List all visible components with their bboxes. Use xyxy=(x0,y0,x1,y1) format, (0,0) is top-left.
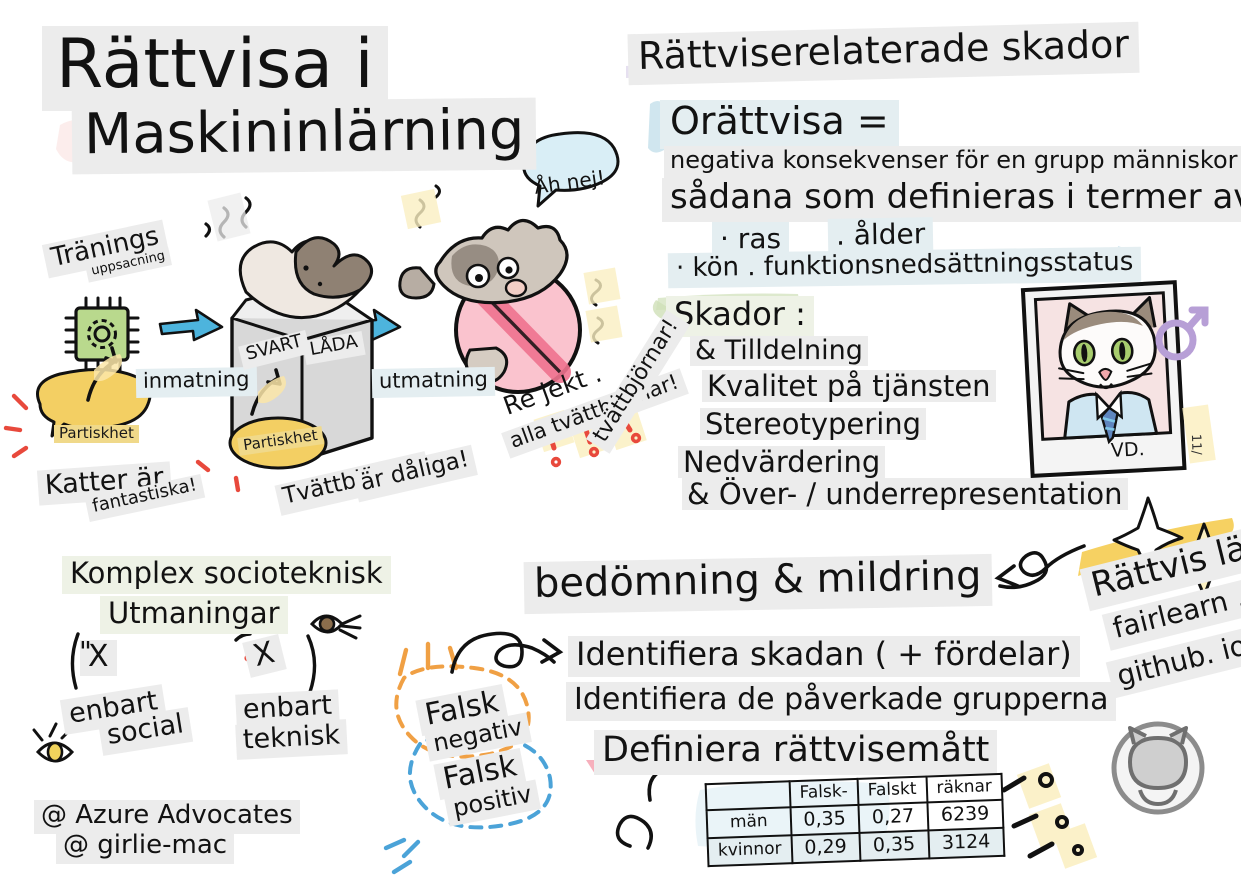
unfairness-subtitle: negativa konsekvenser för en grupp männi… xyxy=(664,146,1241,178)
table-col-count: räknar xyxy=(926,774,1002,803)
exclamation-marks-cluster-2 xyxy=(1004,763,1097,868)
unfairness-label: Orättvisa = xyxy=(660,100,899,149)
blue-arrow-right-icon-1 xyxy=(160,310,222,340)
input-label: inmatning xyxy=(136,367,257,398)
harm-item-quality-of-service: Kvalitet på tjänsten xyxy=(702,370,996,402)
sticky-note-decor: 11/ xyxy=(1182,404,1216,463)
eye-icon-1 xyxy=(312,616,360,638)
bias-bubble-label-1: Partiskhet xyxy=(54,425,139,443)
fairness-metrics-table: Falsk- Falskt räknar män 0,35 0,27 6239 … xyxy=(705,773,1006,867)
credit-line-2: @ girlie-mac xyxy=(56,830,234,864)
table-cell-men-false-negative: 0,35 xyxy=(790,805,859,835)
challenges-heading-line-1: Komplex socioteknisk xyxy=(62,556,391,594)
credit-line-1: @ Azure Advocates xyxy=(34,800,300,834)
bias-bubble-label-2: Partiskhet xyxy=(237,426,324,455)
orange-rays xyxy=(400,644,456,674)
photo-caption-ceo: VD. xyxy=(1105,439,1150,463)
attribute-gender-disability: · kön . funktionsnedsättningsstatus xyxy=(668,247,1142,289)
black-box-word-1: SVART xyxy=(238,330,311,370)
challenges-heading-line-2: Utmaningar xyxy=(100,596,288,634)
speech-bubble-text: Åh nej! xyxy=(533,167,606,198)
table-col-false-negative: Falsk- xyxy=(789,779,858,807)
option-technical-line-2: teknisk xyxy=(235,719,348,760)
svg-text:11/: 11/ xyxy=(1188,434,1204,456)
assessment-step-2: Identifiera de påverkade grupperna xyxy=(566,682,1116,721)
table-col-false-positive: Falskt xyxy=(857,776,927,804)
bias-bubble-1 xyxy=(38,348,151,436)
sketchnote-canvas: 11/ xyxy=(0,0,1241,875)
github-octocat-icon xyxy=(1114,724,1202,812)
cat-ceo-polaroid xyxy=(1023,282,1185,476)
table-cell-women-false-negative: 0,29 xyxy=(791,833,860,863)
quote-mark: " xyxy=(74,636,97,667)
assessment-step-1: Identifiera skadan ( + fördelar) xyxy=(568,636,1080,677)
cross-mark-2: X xyxy=(242,634,286,678)
curly-arrow-left-icon xyxy=(998,546,1084,587)
harms-list-heading: Skador : xyxy=(666,296,814,337)
assessment-step-3: Definiera rättvisemått xyxy=(594,730,997,775)
output-label: utmatning xyxy=(372,367,495,398)
black-box-illustration xyxy=(206,193,372,460)
harm-item-representation: & Över- / underrepresentation xyxy=(682,478,1128,510)
harm-item-allocation: & Tilldelning xyxy=(690,336,868,366)
harm-item-denigration: Nedvärdering xyxy=(678,446,885,478)
table-cell-men-count: 6239 xyxy=(927,800,1003,831)
page-title-line-1: Rättvisa i xyxy=(42,26,388,111)
black-box-word-2: LÅDA xyxy=(302,331,365,365)
table-row-label-men: män xyxy=(707,807,792,838)
harm-item-stereotyping: Stereotypering xyxy=(700,408,926,440)
curly-arrow-right-icon xyxy=(452,633,560,672)
unfairness-definition: sådana som definieras i termer av xyxy=(662,178,1241,222)
page-title-line-2: Maskininlärning xyxy=(72,98,537,175)
table-row-label-women: kvinnor xyxy=(708,835,793,866)
table-col-blank xyxy=(706,781,790,810)
blue-rays xyxy=(386,840,418,872)
table-cell-women-count: 3124 xyxy=(928,828,1004,859)
assessment-heading: bedömning & mildring xyxy=(524,554,992,614)
male-gender-symbol xyxy=(1159,310,1205,357)
harms-section-heading: Rättviserelaterade skador xyxy=(627,22,1139,85)
cpu-chip-gear-icon xyxy=(66,298,138,370)
table-cell-men-false-positive: 0,27 xyxy=(858,802,928,832)
table-cell-women-false-positive: 0,35 xyxy=(859,830,929,860)
